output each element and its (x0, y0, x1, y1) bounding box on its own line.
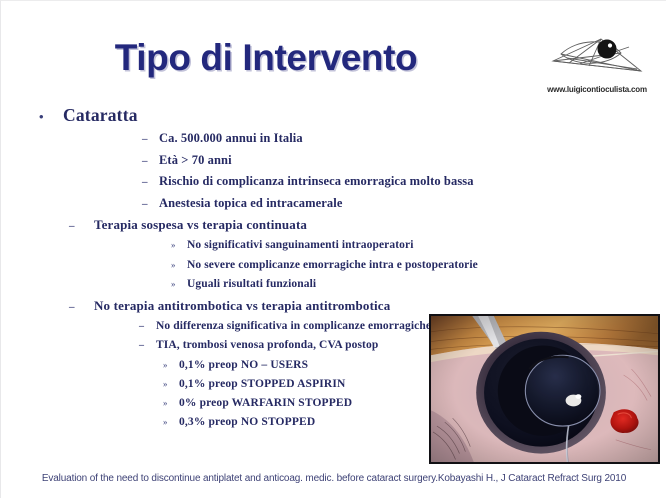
list-item-label: 0% preop WARFARIN STOPPED (179, 397, 352, 409)
chevron-marker: » (171, 240, 187, 250)
chevron-marker: » (163, 417, 179, 427)
cataract-surgery-eye-photo (429, 314, 660, 464)
list-item-label: Ca. 500.000 annui in Italia (159, 131, 303, 146)
list-item: » No significativi sanguinamenti intraop… (171, 239, 666, 259)
logo-url-text: www.luigicontioculista.com (534, 85, 660, 94)
list-item: » No severe complicanze emorragiche intr… (171, 259, 666, 279)
list-item: – Rischio di complicanza intrinseca emor… (142, 174, 666, 196)
list-item-label: No terapia antitrombotica vs terapia ant… (94, 298, 390, 314)
list-item-label: Cataratta (63, 105, 138, 126)
list-item-label: TIA, trombosi venosa profonda, CVA posto… (156, 339, 378, 351)
list-item-label: Età > 70 anni (159, 153, 232, 168)
list-item: – Anestesia topica ed intracamerale (142, 196, 666, 218)
dash-marker: – (142, 198, 159, 210)
dash-marker: – (69, 220, 94, 232)
bullet-marker: • (39, 109, 63, 125)
chevron-marker: » (171, 279, 187, 289)
list-item: – Ca. 500.000 annui in Italia (142, 131, 666, 153)
list-item-label: 0,1% preop NO – USERS (179, 359, 308, 371)
list-item-label: Anestesia topica ed intracamerale (159, 196, 342, 211)
list-item-label: 0,3% preop NO STOPPED (179, 416, 315, 428)
chevron-marker: » (163, 379, 179, 389)
dash-marker: – (142, 155, 159, 167)
list-item: » Uguali risultati funzionali (171, 278, 666, 298)
list-item: – Terapia sospesa vs terapia continuata (69, 217, 666, 239)
list-item-label: No severe complicanze emorragiche intra … (187, 259, 478, 271)
list-item: • Cataratta (39, 105, 666, 131)
chevron-marker: » (163, 398, 179, 408)
list-item-label: Uguali risultati funzionali (187, 278, 316, 290)
dash-marker: – (142, 133, 159, 145)
chevron-marker: » (171, 260, 187, 270)
citation-footer: Evaluation of the need to discontinue an… (1, 473, 666, 484)
dash-marker: – (139, 340, 156, 351)
presentation-slide: Tipo di Intervento www.luigicontioculist… (0, 0, 666, 498)
list-item-label: Rischio di complicanza intrinseca emorra… (159, 174, 474, 189)
list-item: – Età > 70 anni (142, 153, 666, 175)
list-item-label: Terapia sospesa vs terapia continuata (94, 217, 307, 233)
dash-marker: – (139, 321, 156, 332)
dash-marker: – (69, 301, 94, 313)
list-item-label: 0,1% preop STOPPED ASPIRIN (179, 378, 345, 390)
eye-logo-icon (549, 33, 645, 83)
page-title: Tipo di Intervento (1, 37, 531, 79)
chevron-marker: » (163, 360, 179, 370)
list-item-label: No significativi sanguinamenti intraoper… (187, 239, 414, 251)
list-item-label: No differenza significativa in complican… (156, 320, 431, 332)
brand-logo: www.luigicontioculista.com (534, 33, 660, 94)
dash-marker: – (142, 176, 159, 188)
